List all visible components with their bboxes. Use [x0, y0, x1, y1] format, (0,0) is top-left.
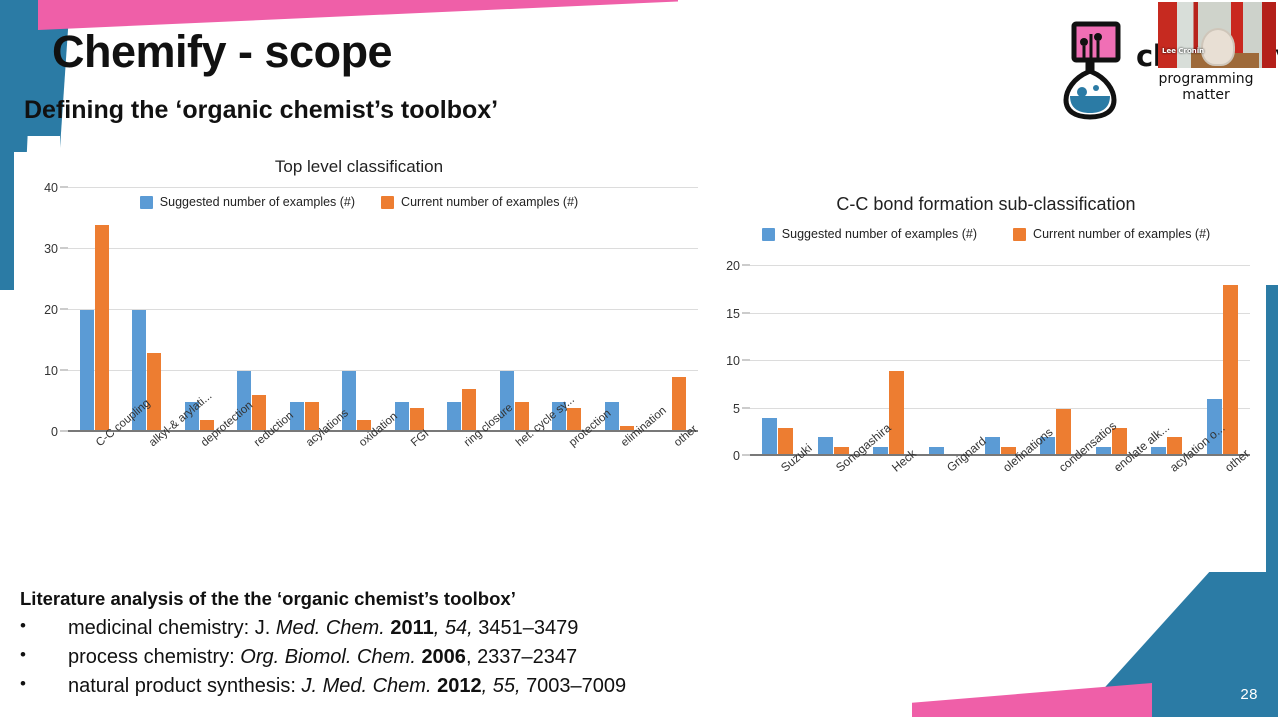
x-axis-label-cell: acylation o... [1139, 464, 1195, 465]
bar-group [593, 188, 646, 432]
list-item: •process chemistry: Org. Biomol. Chem. 2… [20, 643, 760, 672]
page-subtitle: Defining the ‘organic chemist’s toolbox’ [24, 96, 498, 125]
bar-current[interactable] [889, 371, 904, 457]
y-axis-tick-mark [60, 370, 68, 371]
x-axis-label-cell: acylations [278, 440, 331, 441]
bullet-glyph: • [20, 672, 68, 697]
x-axis-label-cell: other [1195, 464, 1251, 465]
y-axis-tick-label: 10 [726, 354, 740, 368]
bar-current[interactable] [95, 225, 109, 432]
x-axis-labels: C-C couplingalkyl-& arylati...deprotecti… [68, 440, 698, 441]
bar-group [972, 266, 1028, 456]
bar-group [750, 266, 806, 456]
bar-group [917, 266, 973, 456]
bar-current[interactable] [147, 353, 161, 432]
x-axis-label-cell: other [646, 440, 699, 441]
plot-grid-and-bars: 05101520 [750, 266, 1250, 456]
bar-suggested[interactable] [80, 310, 94, 432]
bar-current[interactable] [515, 402, 529, 433]
bar-group [1028, 266, 1084, 456]
x-axis-label-cell: condensatios [1028, 464, 1084, 465]
logo-tagline-line1: programming [1136, 71, 1276, 87]
video-person-shape [1203, 30, 1233, 64]
y-axis-tick-label: 20 [44, 303, 58, 317]
bar-suggested[interactable] [342, 371, 356, 432]
x-axis-label-cell: Sonogashira [806, 464, 862, 465]
video-participant-name: Lee Cronin [1162, 47, 1204, 55]
x-axis-label-cell: protection [541, 440, 594, 441]
literature-analysis-block: Literature analysis of the the ‘organic … [20, 588, 760, 701]
bar-group [68, 188, 121, 432]
legend-swatch-suggested [762, 228, 775, 241]
bar-group [383, 188, 436, 432]
bar-suggested[interactable] [447, 402, 461, 433]
y-axis-tick-mark [60, 248, 68, 249]
bar-suggested[interactable] [762, 418, 777, 456]
legend-label-suggested: Suggested number of examples (#) [782, 227, 977, 241]
x-axis-label-cell: reduction [226, 440, 279, 441]
x-axis-label-cell: elimination [593, 440, 646, 441]
x-axis-label-cell: FGI [383, 440, 436, 441]
y-axis-tick-label: 0 [733, 449, 740, 463]
bar-current[interactable] [1056, 409, 1071, 457]
bar-current[interactable] [462, 389, 476, 432]
list-item-text: medicinal chemistry: J. Med. Chem. 2011,… [68, 614, 578, 643]
y-axis-tick-label: 30 [44, 242, 58, 256]
bar-group [806, 266, 862, 456]
brand-logo: di chemistry programming matter Lee Cron… [1040, 2, 1276, 134]
legend-item-suggested[interactable]: Suggested number of examples (#) [762, 227, 977, 241]
bar-group [121, 188, 174, 432]
x-axis-label-cell: Grignard [917, 464, 973, 465]
bar-group [278, 188, 331, 432]
list-item-text: natural product synthesis: J. Med. Chem.… [68, 672, 626, 701]
y-axis-tick-label: 20 [726, 259, 740, 273]
y-axis-tick-mark [60, 187, 68, 188]
flask-icon [1060, 20, 1138, 120]
bar-current[interactable] [672, 377, 686, 432]
x-axis-label-cell: alkyl-& arylati... [121, 440, 174, 441]
list-item: •natural product synthesis: J. Med. Chem… [20, 672, 760, 701]
plot-area: 05101520 SuzukiSonogashiraHeckGrignardol… [750, 266, 1250, 456]
x-axis-label-cell: C-C coupling [68, 440, 121, 441]
x-axis-labels: SuzukiSonogashiraHeckGrignardolefination… [750, 464, 1250, 465]
y-axis-tick-label: 0 [51, 425, 58, 439]
y-axis-tick-mark [742, 407, 750, 408]
logo-tagline-line2: matter [1136, 87, 1276, 103]
x-axis-label-cell: ring closure [436, 440, 489, 441]
legend-swatch-current [1013, 228, 1026, 241]
bars-layer [68, 188, 698, 432]
legend-label-current: Current number of examples (#) [1033, 227, 1210, 241]
list-item: •medicinal chemistry: J. Med. Chem. 2011… [20, 614, 760, 643]
y-axis-tick-label: 5 [733, 402, 740, 416]
y-axis-tick-label: 15 [726, 307, 740, 321]
y-axis-tick-label: 40 [44, 181, 58, 195]
bar-current[interactable] [305, 402, 319, 433]
y-axis-tick-label: 10 [44, 364, 58, 378]
chart-title: C-C bond formation sub-classification [706, 194, 1266, 215]
bar-group [488, 188, 541, 432]
plot-grid-and-bars: 010203040 [68, 188, 698, 432]
chart-top-level-classification: Top level classification Suggested numbe… [14, 152, 704, 572]
page-number: 28 [1240, 686, 1258, 703]
x-axis-label-cell: oxidation [331, 440, 384, 441]
list-item-text: process chemistry: Org. Biomol. Chem. 20… [68, 643, 577, 672]
decorative-shape-pink-bottom [912, 683, 1152, 717]
y-axis-tick-mark [742, 360, 750, 361]
chart-cc-bond-formation-subclassification: C-C bond formation sub-classification Su… [706, 192, 1266, 572]
chart-title: Top level classification [14, 157, 704, 177]
bullet-glyph: • [20, 643, 68, 668]
bar-group [331, 188, 384, 432]
bar-group [436, 188, 489, 432]
x-axis-label-cell: olefinations [972, 464, 1028, 465]
bar-group [646, 188, 699, 432]
y-axis-tick-mark [742, 312, 750, 313]
y-axis-tick-mark [60, 309, 68, 310]
bar-group [226, 188, 279, 432]
literature-heading: Literature analysis of the the ‘organic … [20, 588, 760, 610]
bar-current[interactable] [252, 395, 266, 432]
plot-area: 010203040 C-C couplingalkyl-& arylati...… [68, 188, 698, 432]
y-axis-tick-mark [60, 431, 68, 432]
bullet-glyph: • [20, 614, 68, 639]
x-axis-label-cell: enolate alk... [1083, 464, 1139, 465]
y-axis-tick-mark [742, 455, 750, 456]
y-axis-tick-mark [742, 265, 750, 266]
chart-legend: Suggested number of examples (#) Current… [706, 227, 1266, 241]
x-axis-label-cell: deprotection [173, 440, 226, 441]
page-title: Chemify - scope [52, 26, 392, 78]
bars-layer [750, 266, 1250, 456]
literature-bullet-list: •medicinal chemistry: J. Med. Chem. 2011… [20, 614, 760, 701]
x-axis-label-cell: Heck [861, 464, 917, 465]
legend-item-current[interactable]: Current number of examples (#) [1013, 227, 1210, 241]
x-axis-label-cell: Suzuki [750, 464, 806, 465]
webcam-video-thumbnail[interactable]: Lee Cronin [1158, 2, 1276, 68]
x-axis-label-cell: het. cycle sy... [488, 440, 541, 441]
